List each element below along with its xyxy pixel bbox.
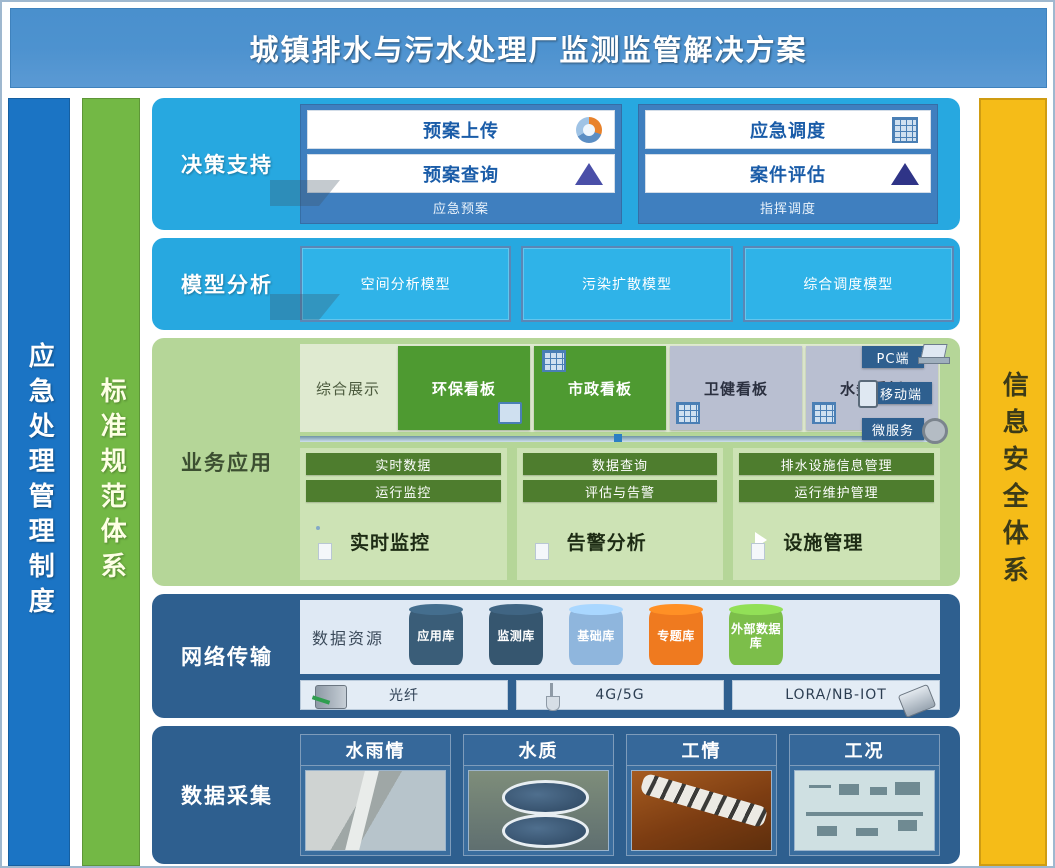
dashboard-card-health-label: 卫健看板 [704, 378, 768, 399]
network-link-cellular[interactable]: 4G/5G [516, 680, 724, 710]
data-card-condition-label: 工况 [790, 735, 939, 766]
business-feature-facility-management-label: 设施管理 [783, 528, 863, 555]
dashboard-card-health[interactable]: 卫健看板 [670, 346, 802, 430]
decision-item-emergency-dispatch[interactable]: 应急调度 [645, 110, 931, 149]
chart-icon [676, 402, 700, 424]
business-column-alarm: 数据查询 评估与告警 告警分析 [517, 448, 724, 580]
database-external[interactable]: 外部数据库 [729, 609, 783, 665]
layer-network-transmission[interactable]: 网络传输 数据资源 应用库 监测库 基础库 专题库 外部数据库 光纤 4G/5G [152, 594, 960, 718]
monitor-icon [498, 402, 522, 424]
data-card-rainfall-label: 水雨情 [301, 735, 450, 766]
phone-icon [858, 380, 878, 408]
decision-item-plan-query[interactable]: 预案查询 [307, 154, 615, 193]
dashboard-card-environment-label: 环保看板 [432, 378, 496, 399]
pipeline-trench-photo [631, 770, 772, 851]
sidebar-emergency-management[interactable]: 应急处理管理制度 [8, 98, 70, 866]
decision-item-plan-query-label: 预案查询 [423, 161, 499, 187]
grid-icon [892, 117, 918, 143]
database-app[interactable]: 应用库 [409, 609, 463, 665]
business-feature-facility-management[interactable]: 设施管理 [739, 507, 934, 575]
data-card-water-quality-label: 水质 [464, 735, 613, 766]
terminal-mobile[interactable]: 移动端 [870, 382, 932, 404]
antenna-icon [545, 683, 575, 705]
model-item-list: 空间分析模型 污染扩散模型 综合调度模型 [300, 246, 954, 322]
layer-network-transmission-label: 网络传输 [152, 594, 302, 718]
play-icon [743, 524, 777, 558]
decision-group-emergency-plan-caption: 应急预案 [307, 198, 615, 217]
model-item-integrated-dispatch[interactable]: 综合调度模型 [743, 246, 954, 322]
data-card-water-quality[interactable]: 水质 [463, 734, 614, 856]
river-channel-photo [305, 770, 446, 851]
network-link-lora-label: LORA/NB-IOT [785, 687, 887, 703]
layer-data-acquisition[interactable]: 数据采集 水雨情 水质 工情 [152, 726, 960, 864]
business-column-list: 实时数据 运行监控 实时监控 数据查询 评估与告警 告警分析 [300, 448, 940, 580]
decision-item-plan-upload-label: 预案上传 [423, 117, 499, 143]
scada-diagram-photo [794, 770, 935, 851]
data-card-engineering-label: 工情 [627, 735, 776, 766]
pyramid-dark-icon [892, 161, 918, 187]
sidebar-emergency-management-label: 应急处理管理制度 [25, 342, 54, 622]
decision-item-case-evaluation[interactable]: 案件评估 [645, 154, 931, 193]
decision-group-command-dispatch: 应急调度 案件评估 指挥调度 [638, 104, 938, 224]
data-resource-strip: 数据资源 应用库 监测库 基础库 专题库 外部数据库 [300, 600, 940, 674]
chart-icon [812, 402, 836, 424]
business-pill-realtime-data[interactable]: 实时数据 [306, 453, 501, 475]
network-link-lora[interactable]: LORA/NB-IOT [732, 680, 940, 710]
dashboard-strip-title: 综合展示 [300, 344, 396, 432]
business-feature-realtime-monitoring[interactable]: 实时监控 [306, 507, 501, 575]
layer-model-analysis-label: 模型分析 [152, 238, 302, 330]
dashboard-card-municipal[interactable]: 市政看板 [534, 346, 666, 430]
page-title: 城镇排水与污水处理厂监测监管解决方案 [249, 27, 807, 69]
decision-item-case-evaluation-label: 案件评估 [750, 161, 826, 187]
model-item-spatial[interactable]: 空间分析模型 [300, 246, 511, 322]
layer-data-acquisition-label: 数据采集 [152, 726, 302, 864]
treatment-plant-photo [468, 770, 609, 851]
dashboard-card-municipal-label: 市政看板 [568, 378, 632, 399]
terminal-microservice[interactable]: 微服务 [862, 418, 924, 440]
layer-model-analysis[interactable]: 模型分析 空间分析模型 污染扩散模型 综合调度模型 [152, 238, 960, 330]
sidebar-standards-system-label: 标准规范体系 [97, 377, 126, 587]
dashboard-card-environment[interactable]: 环保看板 [398, 346, 530, 430]
recycle-icon [576, 117, 602, 143]
business-pill-evaluation-alarm[interactable]: 评估与告警 [523, 480, 718, 502]
sidebar-information-security[interactable]: 信息安全体系 [979, 98, 1047, 866]
data-card-list: 水雨情 水质 工情 工况 [300, 734, 940, 856]
sensor-icon [898, 684, 937, 718]
business-feature-alarm-analysis[interactable]: 告警分析 [523, 507, 718, 575]
network-link-fiber[interactable]: 光纤 [300, 680, 508, 710]
business-column-monitoring: 实时数据 运行监控 实时监控 [300, 448, 507, 580]
terminal-pc[interactable]: PC端 [862, 346, 924, 368]
network-link-fiber-label: 光纤 [389, 685, 419, 705]
sidebar-information-security-label: 信息安全体系 [999, 371, 1028, 593]
database-monitoring[interactable]: 监测库 [489, 609, 543, 665]
globe-icon [310, 524, 344, 558]
decision-item-plan-upload[interactable]: 预案上传 [307, 110, 615, 149]
layer-business-application[interactable]: 业务应用 综合展示 环保看板 市政看板 卫健看板 水务看板 [152, 338, 960, 586]
window-icon [542, 350, 566, 372]
fiber-icon [315, 685, 347, 709]
layer-decision-support-label: 决策支持 [152, 98, 302, 230]
data-card-rainfall[interactable]: 水雨情 [300, 734, 451, 856]
layer-stack: 决策支持 预案上传 预案查询 应急预案 应急调度 案件评估 [152, 98, 960, 866]
database-icon [527, 524, 561, 558]
dashboard-divider-marker [614, 434, 622, 442]
decision-group-command-dispatch-caption: 指挥调度 [645, 198, 931, 217]
decision-item-emergency-dispatch-label: 应急调度 [750, 117, 826, 143]
layer-decision-support[interactable]: 决策支持 预案上传 预案查询 应急预案 应急调度 案件评估 [152, 98, 960, 230]
business-pill-data-query[interactable]: 数据查询 [523, 453, 718, 475]
diagram-frame: 城镇排水与污水处理厂监测监管解决方案 应急处理管理制度 标准规范体系 信息安全体… [0, 0, 1055, 868]
business-pill-operation-monitoring[interactable]: 运行监控 [306, 480, 501, 502]
pyramid-icon [576, 161, 602, 187]
data-card-condition[interactable]: 工况 [789, 734, 940, 856]
data-card-engineering[interactable]: 工情 [626, 734, 777, 856]
terminal-list: PC端 移动端 微服务 [858, 346, 954, 470]
business-feature-alarm-analysis-label: 告警分析 [567, 528, 647, 555]
decision-group-emergency-plan: 预案上传 预案查询 应急预案 [300, 104, 622, 224]
sidebar-standards-system[interactable]: 标准规范体系 [82, 98, 140, 866]
data-resource-title: 数据资源 [300, 625, 396, 649]
layer-business-application-label: 业务应用 [152, 338, 302, 586]
gear-icon [922, 418, 948, 444]
business-pill-operation-maintenance[interactable]: 运行维护管理 [739, 480, 934, 502]
network-link-cellular-label: 4G/5G [595, 687, 644, 703]
business-feature-realtime-monitoring-label: 实时监控 [350, 528, 430, 555]
title-banner: 城镇排水与污水处理厂监测监管解决方案 [10, 8, 1047, 88]
network-link-list: 光纤 4G/5G LORA/NB-IOT [300, 680, 940, 710]
database-thematic[interactable]: 专题库 [649, 609, 703, 665]
model-item-pollution-diffusion[interactable]: 污染扩散模型 [521, 246, 732, 322]
database-basic[interactable]: 基础库 [569, 609, 623, 665]
dashboard-strip: 综合展示 环保看板 市政看板 卫健看板 水务看板 [300, 344, 940, 432]
